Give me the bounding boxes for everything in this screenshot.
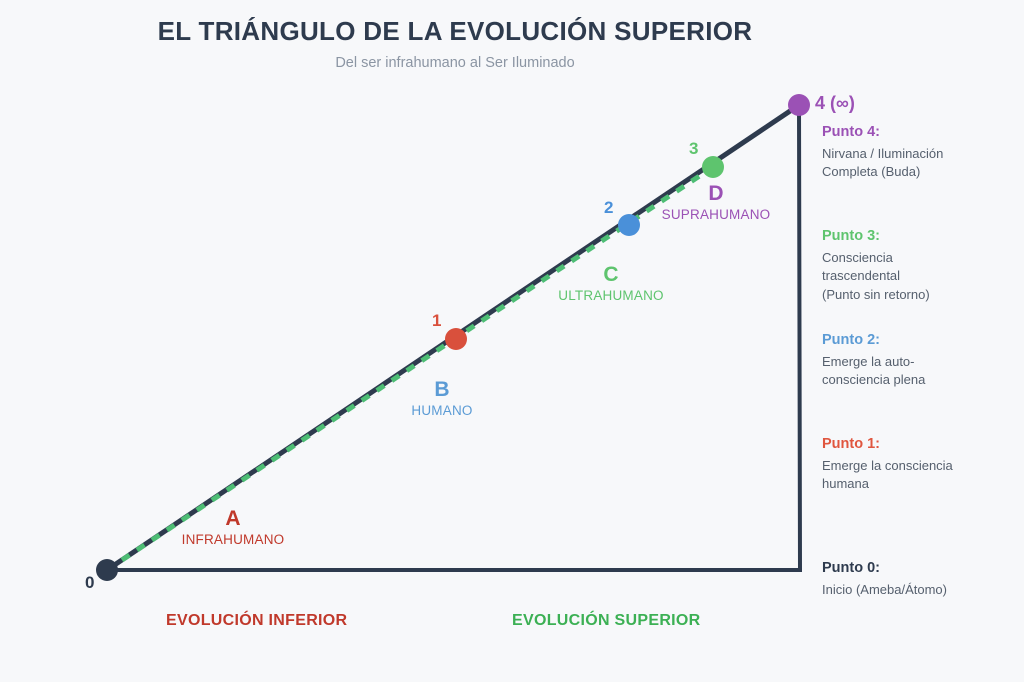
legend-evolucion-superior: EVOLUCIÓN SUPERIOR bbox=[512, 612, 701, 630]
segment-label-b: B HUMANO bbox=[382, 379, 502, 421]
note-punto-3: Punto 3: Consciencia trascendental (Punt… bbox=[822, 228, 1018, 304]
segment-letter-d: D bbox=[656, 183, 776, 205]
note-title-4: Punto 4: bbox=[822, 124, 1018, 140]
point-marker-2 bbox=[618, 214, 640, 236]
point-marker-4 bbox=[788, 94, 810, 116]
note-punto-4: Punto 4: Nirvana / Iluminación Completa … bbox=[822, 124, 1018, 182]
point-marker-1 bbox=[445, 328, 467, 350]
note-punto-0: Punto 0: Inicio (Ameba/Átomo) bbox=[822, 560, 1018, 599]
note-title-1: Punto 1: bbox=[822, 436, 1018, 452]
segment-word-c: ULTRAHUMANO bbox=[551, 286, 671, 306]
note-punto-2: Punto 2: Emerge la auto- consciencia ple… bbox=[822, 332, 1018, 390]
point-marker-3 bbox=[702, 156, 724, 178]
point-label-3: 3 bbox=[689, 139, 698, 159]
point-label-1: 1 bbox=[432, 311, 441, 331]
legend-evolucion-inferior: EVOLUCIÓN INFERIOR bbox=[166, 612, 347, 630]
segment-label-a: A INFRAHUMANO bbox=[173, 508, 293, 550]
segment-letter-c: C bbox=[551, 264, 671, 286]
segment-word-d: SUPRAHUMANO bbox=[656, 205, 776, 225]
diagram-canvas: EL TRIÁNGULO DE LA EVOLUCIÓN SUPERIOR De… bbox=[0, 0, 1024, 682]
point-label-4: 4 (∞) bbox=[815, 93, 855, 114]
point-marker-0 bbox=[96, 559, 118, 581]
note-body-0: Inicio (Ameba/Átomo) bbox=[822, 581, 1018, 599]
point-label-2: 2 bbox=[604, 198, 613, 218]
note-title-0: Punto 0: bbox=[822, 560, 1018, 576]
note-body-3: Consciencia trascendental (Punto sin ret… bbox=[822, 249, 1018, 304]
note-body-4: Nirvana / Iluminación Completa (Buda) bbox=[822, 145, 1018, 182]
vertical-line bbox=[799, 105, 800, 570]
note-body-2: Emerge la auto- consciencia plena bbox=[822, 353, 1018, 390]
segment-word-b: HUMANO bbox=[382, 401, 502, 421]
note-body-1: Emerge la consciencia humana bbox=[822, 457, 1018, 494]
point-label-0: 0 bbox=[85, 573, 94, 593]
note-title-2: Punto 2: bbox=[822, 332, 1018, 348]
note-title-3: Punto 3: bbox=[822, 228, 1018, 244]
segment-label-d: D SUPRAHUMANO bbox=[656, 183, 776, 225]
note-punto-1: Punto 1: Emerge la consciencia humana bbox=[822, 436, 1018, 494]
segment-label-c: C ULTRAHUMANO bbox=[551, 264, 671, 306]
segment-letter-b: B bbox=[382, 379, 502, 401]
segment-letter-a: A bbox=[173, 508, 293, 530]
segment-word-a: INFRAHUMANO bbox=[173, 530, 293, 550]
